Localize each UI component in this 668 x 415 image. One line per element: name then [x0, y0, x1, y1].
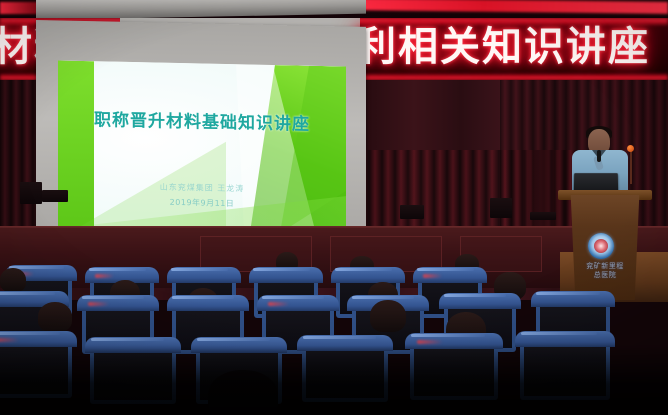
seat-rim — [167, 267, 241, 283]
microphone-stand — [630, 150, 632, 184]
seat-red-glow — [268, 302, 290, 306]
presentation-slide: 职称晋升材料基础知识讲座 山东兖煤集团 王龙涛 2019年9月11日 — [58, 60, 346, 234]
seat-highlight — [335, 268, 391, 271]
seat-highlight — [171, 268, 227, 271]
ceiling-light-left — [0, 2, 40, 14]
microphone-light — [627, 145, 634, 152]
seat-highlight — [89, 268, 145, 271]
seat-red-glow — [417, 340, 443, 344]
seat-highlight — [0, 332, 60, 335]
seat-highlight — [172, 296, 234, 299]
audience-head — [0, 268, 26, 292]
seat-highlight — [444, 294, 506, 297]
audience-head — [370, 300, 406, 332]
seat-highlight — [417, 268, 473, 271]
seat — [520, 336, 610, 400]
hospital-emblem-icon — [588, 233, 614, 259]
seat-highlight — [521, 332, 597, 335]
seat-highlight — [411, 334, 486, 337]
seat-highlight — [91, 338, 164, 341]
seat — [410, 338, 498, 400]
seat-highlight — [0, 292, 55, 295]
photo-scene: 材料 利相关知识讲座 职称晋升材料基础知识讲座 山东兖煤集团 王龙涛 2019年… — [0, 0, 668, 415]
seat-highlight — [536, 292, 600, 295]
audience-head-foreground — [208, 370, 278, 415]
seat-highlight — [82, 296, 144, 299]
seat-rim — [531, 291, 615, 307]
stage-monitor-4 — [490, 198, 512, 218]
seat-highlight — [197, 338, 270, 341]
seat-highlight — [262, 296, 324, 299]
stage-monitor-2 — [42, 190, 68, 202]
seat — [0, 336, 72, 398]
seat-red-glow — [88, 302, 110, 306]
hospital-emblem-inner — [594, 239, 608, 253]
podium-org-line2: 总医院 — [570, 271, 640, 280]
seat-red-glow — [0, 338, 19, 342]
audience-head — [38, 302, 72, 332]
handheld-microphone — [597, 150, 601, 162]
seat-rim — [439, 293, 521, 309]
stage-monitor-1 — [20, 182, 42, 204]
seat-red-glow — [95, 274, 114, 278]
led-banner-text-right: 利相关知识讲座 — [356, 22, 650, 72]
stage-monitor-3 — [400, 205, 424, 219]
seat-highlight — [303, 336, 376, 339]
seat-highlight — [352, 296, 414, 299]
seat-rim — [515, 331, 615, 347]
seat — [302, 340, 388, 402]
seat-red-glow — [423, 274, 442, 278]
seat-rim — [167, 295, 249, 311]
seat-rim — [249, 267, 323, 283]
seat-highlight — [253, 268, 309, 271]
seat-rim — [331, 267, 405, 283]
stage-monitor-5 — [530, 212, 556, 220]
podium-org-line1: 兖矿新里程 — [570, 262, 640, 271]
seat — [90, 342, 176, 404]
podium-org-name: 兖矿新里程 总医院 — [570, 262, 640, 280]
seat-rim — [191, 337, 287, 353]
seat-rim — [297, 335, 393, 351]
seat-rim — [85, 337, 181, 353]
